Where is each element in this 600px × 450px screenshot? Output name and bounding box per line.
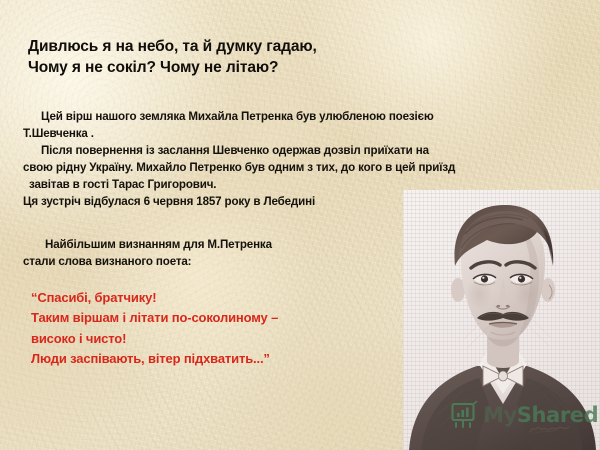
body-line-2: Т.Шевченка .: [23, 125, 563, 142]
shevchenko-quote: “Спасибі, братчику! Таким віршам і літат…: [31, 288, 411, 369]
portrait-image: [403, 190, 600, 450]
artist-signature: [528, 421, 572, 437]
recognition-paragraph: Найбільшим визнанням для М.Петренка стал…: [23, 236, 423, 271]
title-line-2: Чому я не сокіл? Чому не літаю?: [28, 57, 428, 78]
body-line-4: свою рідну Україну. Михайло Петренко був…: [23, 159, 563, 176]
quote-line-3: високо і чисто!: [31, 329, 411, 349]
recognition-line-1: Найбільшим визнанням для М.Петренка: [23, 236, 423, 253]
body-line-1: Цей вірш нашого земляка Михайла Петренка…: [23, 108, 563, 125]
quote-line-4: Люди заспівають, вітер підхватить...”: [31, 349, 411, 369]
quote-line-2: Таким віршам і літати по-соколиному –: [31, 308, 411, 328]
title-line-1: Дивлюсь я на небо, та й думку гадаю,: [28, 36, 428, 57]
recognition-line-2: стали слова визнаного поета:: [23, 253, 423, 270]
slide-title: Дивлюсь я на небо, та й думку гадаю, Чом…: [28, 36, 428, 79]
presentation-slide: Дивлюсь я на небо, та й думку гадаю, Чом…: [0, 0, 600, 450]
body-line-3: Після повернення із заслання Шевченко од…: [23, 142, 563, 159]
quote-line-1: “Спасибі, братчику!: [31, 288, 411, 308]
